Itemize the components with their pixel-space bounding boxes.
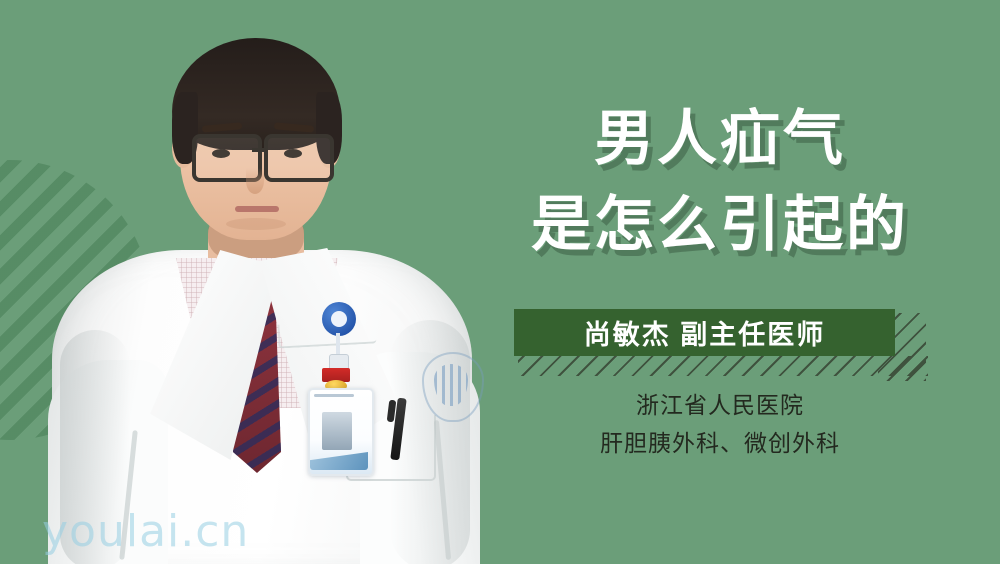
affiliation-block: 浙江省人民医院 肝胆胰外科、微创外科	[470, 386, 970, 462]
id-badge-header-line	[314, 394, 354, 397]
title-block: 男人疝气 是怎么引起的	[470, 96, 970, 268]
diagonal-hatch-bottom	[518, 356, 928, 376]
department-label: 肝胆胰外科、微创外科	[470, 424, 970, 462]
hospital-label: 浙江省人民医院	[470, 386, 970, 424]
glasses-lens-right	[264, 134, 334, 182]
title-line-2: 是怎么引起的	[470, 182, 970, 268]
title-line-1: 男人疝气	[470, 96, 970, 182]
doctor-name-banner-wrap: 尚敏杰 副主任医师	[500, 305, 940, 380]
video-cover-card: 男人疝气 是怎么引起的 尚敏杰 副主任医师 浙江省人民医院 肝胆胰外科、微创外科…	[0, 0, 1000, 564]
badge-reel-center	[331, 311, 347, 327]
mouth	[235, 206, 279, 212]
id-badge-photo	[322, 412, 352, 450]
glasses-bridge	[252, 148, 268, 152]
coat-shadow-left	[60, 330, 130, 564]
doctor-name-banner: 尚敏杰 副主任医师	[514, 309, 895, 356]
chin-shadow	[226, 218, 286, 230]
doctor-portrait	[30, 0, 500, 564]
nose	[246, 168, 264, 194]
doctor-name-label: 尚敏杰 副主任医师	[584, 313, 826, 352]
